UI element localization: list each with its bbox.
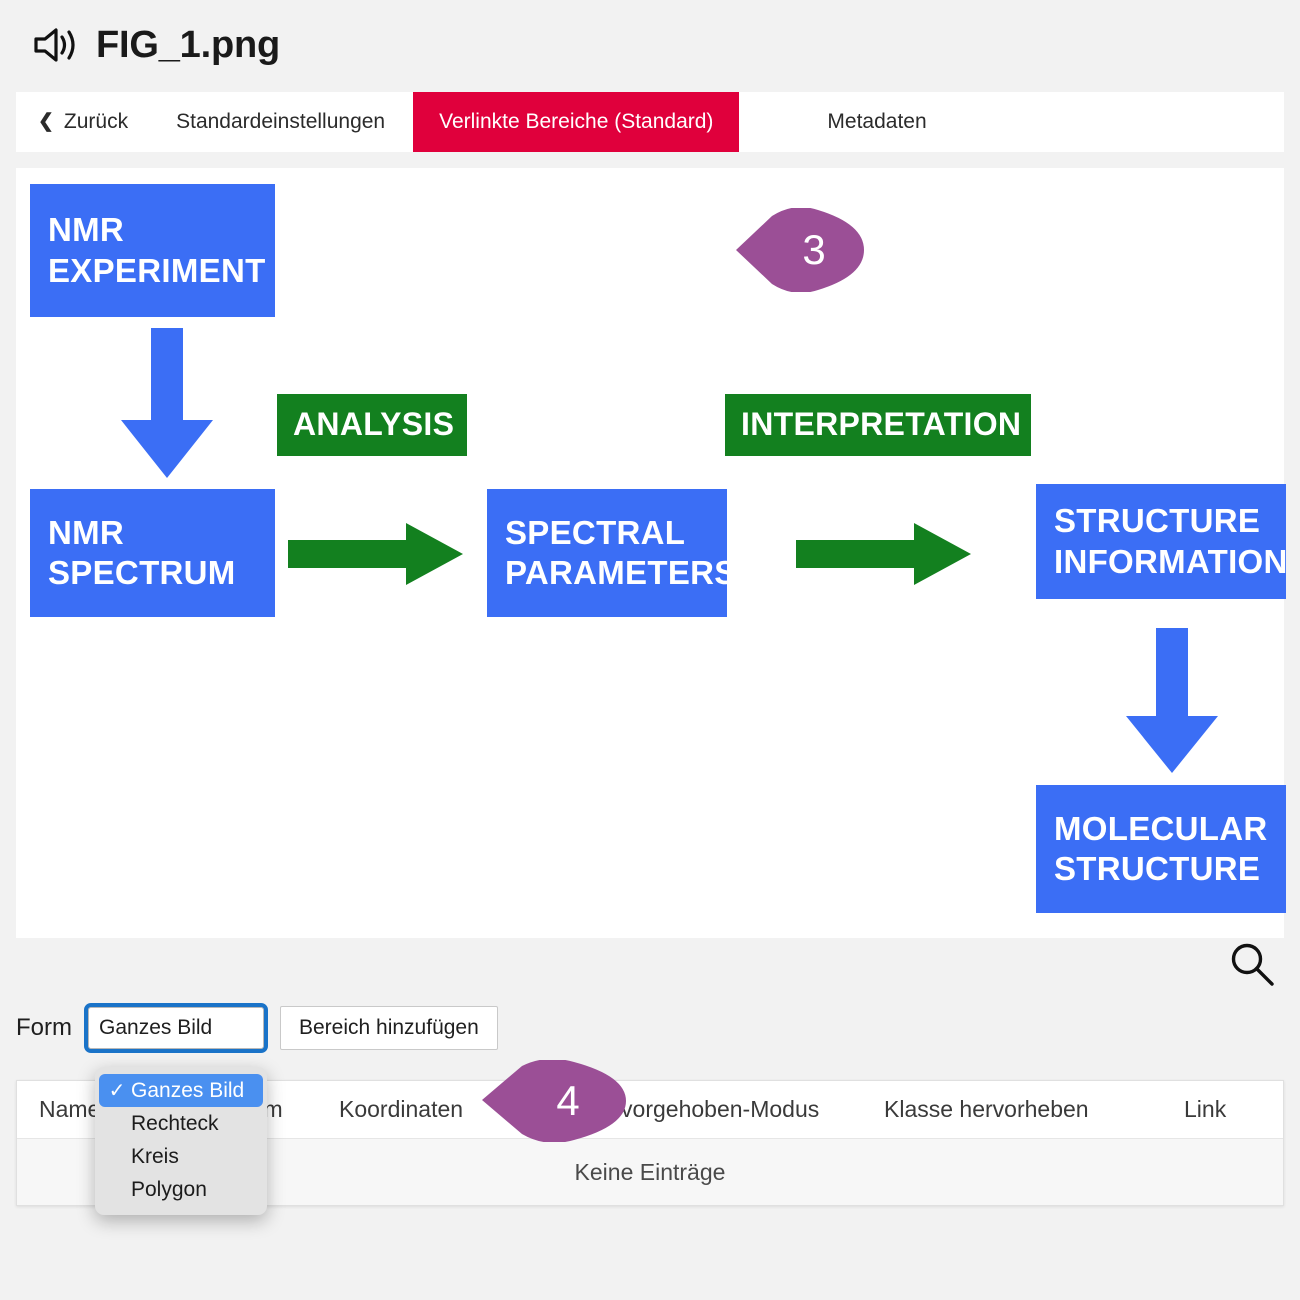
tab-bar: ❮ Zurück Standardeinstellungen Verlinkte… [16,92,1284,152]
magnifier-glyph [1226,938,1278,990]
shape-select-dropdown[interactable]: ✓ Ganzes Bild Rechteck Kreis Polygon [95,1067,267,1215]
table-column-koordinaten: Koordinaten [339,1096,584,1123]
figure-panel[interactable]: NMR EXPERIMENT NMR SPECTRUM ANALYSIS SPE… [16,168,1284,938]
table-column-hervorgehoben-modus: Hervorgehoben-Modus [584,1096,884,1123]
diagram-node-spectral-parameters: SPECTRAL PARAMETERS [487,489,727,617]
node-line: STRUCTURE [1054,849,1260,889]
node-line: STRUCTURE [1054,501,1260,541]
dropdown-option-polygon[interactable]: Polygon [99,1173,263,1206]
tab-metadaten[interactable]: Metadaten [739,92,948,152]
check-icon: ✓ [103,1078,131,1103]
arrow-down-experiment-to-spectrum [121,328,213,478]
node-line: NMR [48,513,124,553]
dropdown-option-ganzes-bild[interactable]: ✓ Ganzes Bild [99,1074,263,1107]
shape-select-label: Form [16,1014,72,1042]
table-column-link: Link [1184,1096,1264,1123]
dropdown-option-label: Ganzes Bild [131,1079,244,1103]
dropdown-option-rechteck[interactable]: Rechteck [99,1107,263,1140]
diagram-node-structure-information: STRUCTURE INFORMATION [1036,484,1286,599]
tab-standardeinstellungen-label: Standardeinstellungen [176,110,385,134]
diagram-node-interpretation: INTERPRETATION [725,394,1031,456]
back-button[interactable]: ❮ Zurück [16,92,154,152]
dropdown-option-label: Polygon [131,1178,207,1202]
table-column-klasse-hervorheben: Klasse hervorheben [884,1096,1184,1123]
page-title: FIG_1.png [96,26,280,64]
node-line: NMR [48,210,124,250]
tab-standardeinstellungen[interactable]: Standardeinstellungen [154,92,413,152]
node-line: MOLECULAR [1054,809,1268,849]
node-line: ANALYSIS [293,405,454,444]
region-controls: Form Ganzes Bild Bereich hinzufügen [16,992,1284,1064]
diagram-node-molecular-structure: MOLECULAR STRUCTURE [1036,785,1286,913]
arrow-right-spectrum-to-parameters [288,523,463,585]
arrow-right-parameters-to-structure [796,523,971,585]
tab-verlinkte-bereiche[interactable]: Verlinkte Bereiche (Standard) [413,92,739,152]
chevron-left-icon: ❮ [38,112,54,131]
magnifier-icon[interactable] [1226,938,1278,990]
page-header: FIG_1.png [0,0,1300,72]
tabbar-wrap: ❮ Zurück Standardeinstellungen Verlinkte… [0,92,1300,152]
shape-select-value: Ganzes Bild [99,1016,212,1040]
dropdown-option-label: Rechteck [131,1112,219,1136]
diagram-node-nmr-experiment: NMR EXPERIMENT [30,184,275,317]
back-button-label: Zurück [64,110,128,134]
tab-metadaten-label: Metadaten [827,110,926,134]
shape-select[interactable]: Ganzes Bild [88,1007,264,1049]
add-region-button[interactable]: Bereich hinzufügen [280,1006,498,1050]
dropdown-option-label: Kreis [131,1145,179,1169]
speaker-icon [32,26,78,64]
node-line: INTERPRETATION [741,405,1021,444]
arrow-down-structure-to-molecular [1126,628,1218,773]
diagram-node-nmr-spectrum: NMR SPECTRUM [30,489,275,617]
node-line: SPECTRUM [48,553,236,593]
node-line: EXPERIMENT [48,251,266,291]
flow-diagram: NMR EXPERIMENT NMR SPECTRUM ANALYSIS SPE… [16,168,1284,938]
node-line: SPECTRAL [505,513,685,553]
node-line: PARAMETERS [505,553,737,593]
node-line: INFORMATION [1054,542,1288,582]
tab-verlinkte-bereiche-label: Verlinkte Bereiche (Standard) [439,110,713,134]
dropdown-option-kreis[interactable]: Kreis [99,1140,263,1173]
diagram-node-analysis: ANALYSIS [277,394,467,456]
